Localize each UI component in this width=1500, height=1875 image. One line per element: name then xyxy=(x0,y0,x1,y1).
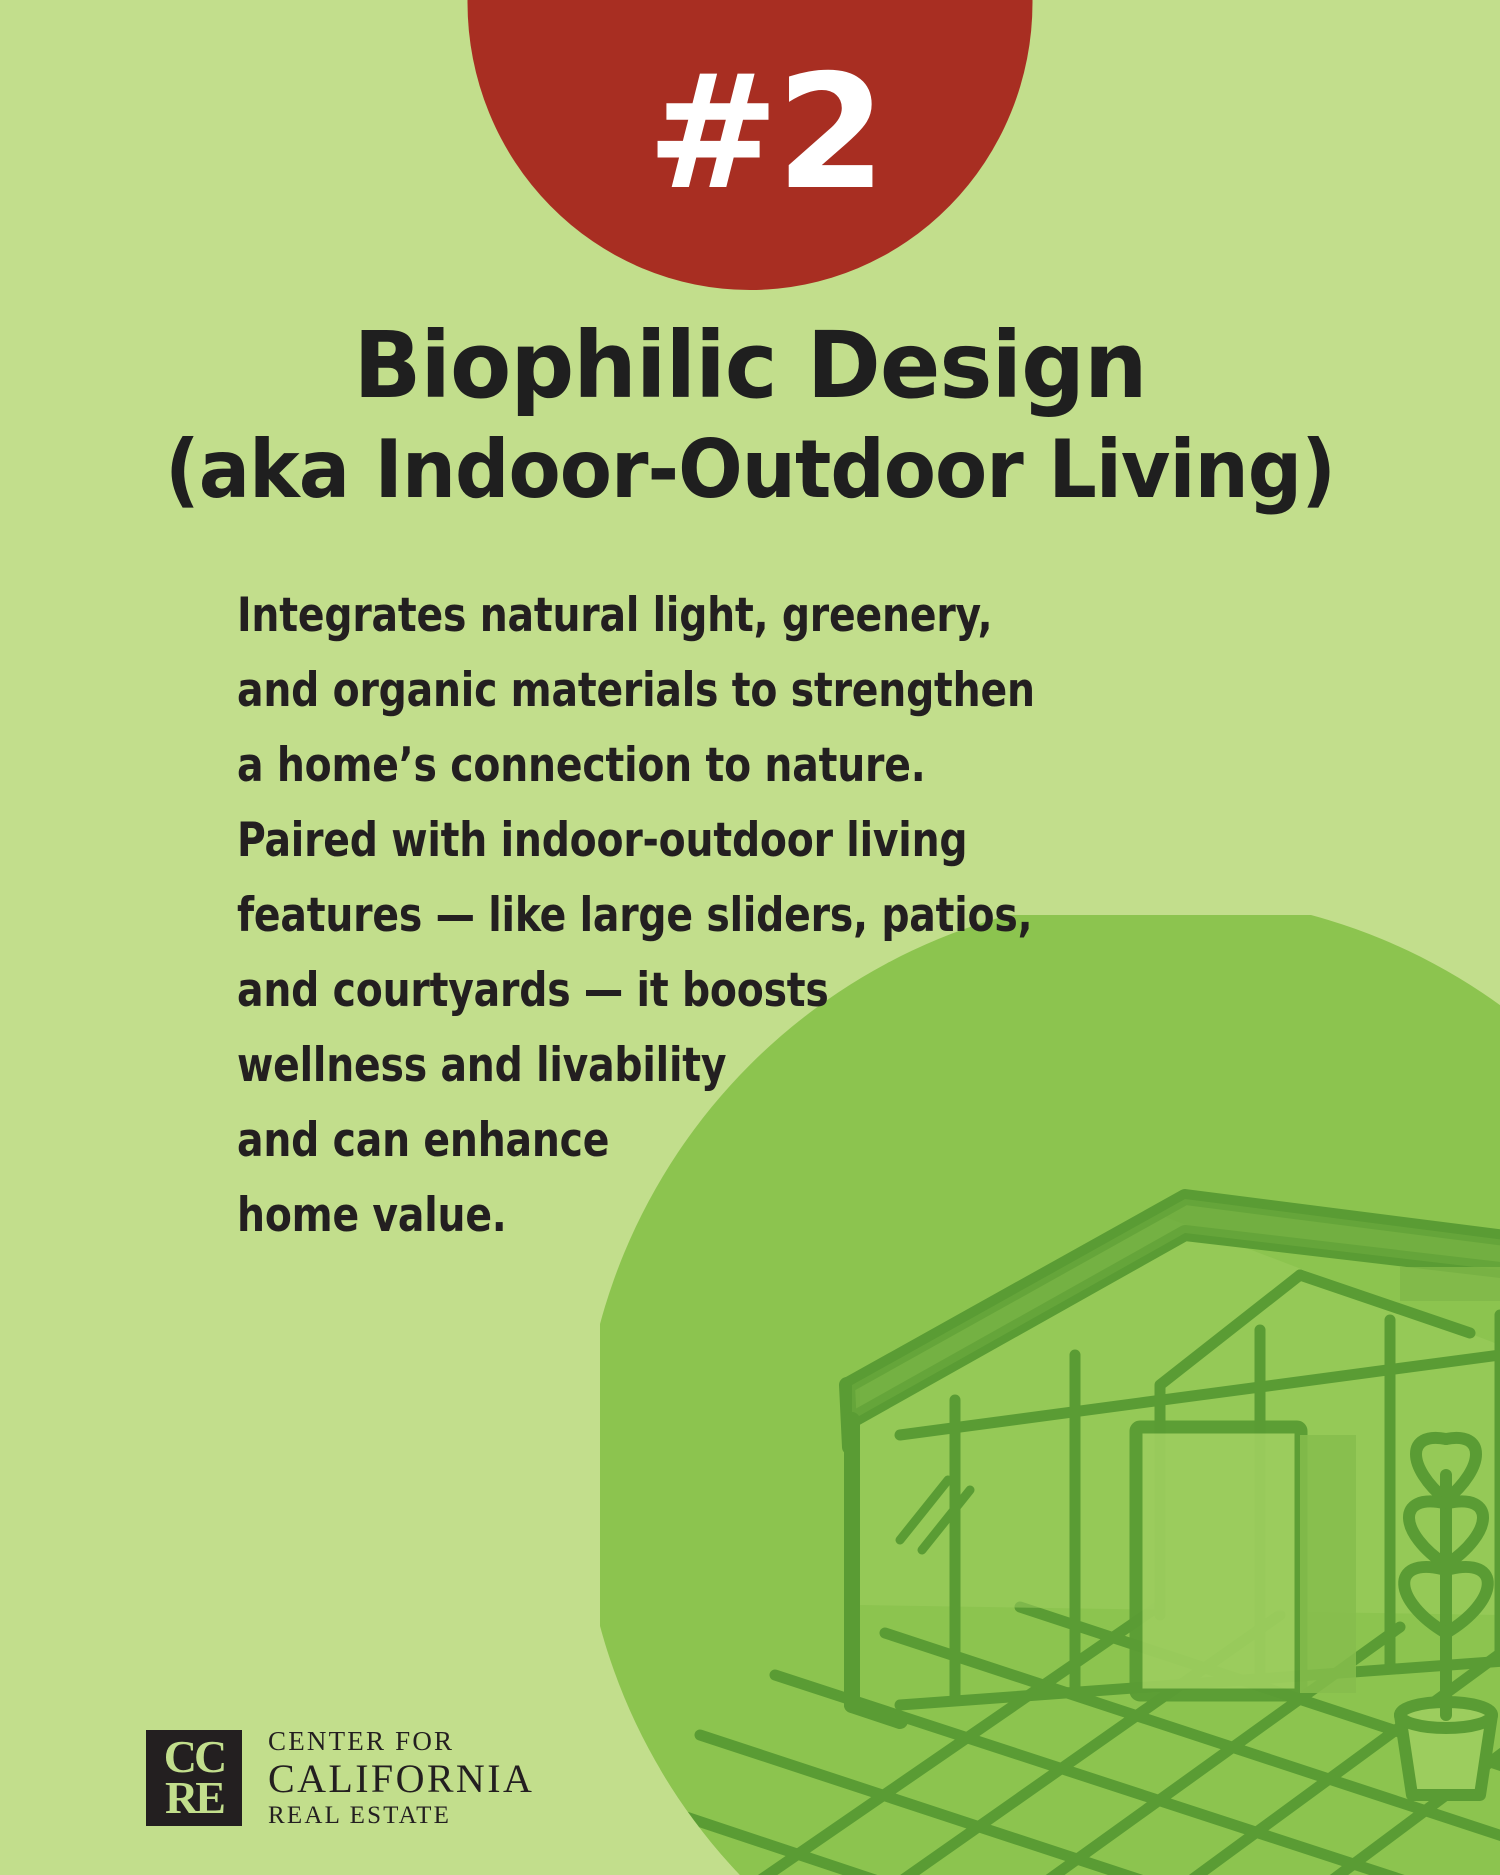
logo-mark-bottom: RE xyxy=(146,1775,242,1821)
left-wall xyxy=(852,1420,900,1721)
glass-reflection xyxy=(900,1480,970,1550)
logo-line-2: CALIFORNIA xyxy=(268,1757,534,1801)
body-line: a home’s connection to nature. xyxy=(237,728,1009,803)
body-line: Integrates natural light, greenery, xyxy=(237,578,1009,653)
body-line: home value. xyxy=(237,1178,1009,1253)
body-line: and courtyards — it boosts xyxy=(237,953,1009,1028)
illustration-contents xyxy=(660,1197,1500,1875)
glass-mullions xyxy=(955,1315,1500,1697)
body-line: Paired with indoor-outdoor living xyxy=(237,803,1009,878)
body-line: and organic materials to strengthen xyxy=(237,653,1009,728)
heading-block: Biophilic Design (aka Indoor-Outdoor Liv… xyxy=(0,320,1500,510)
ccre-logo: CC RE CENTER FOR CALIFORNIA REAL ESTATE xyxy=(146,1725,534,1831)
body-line: and can enhance xyxy=(237,1103,1009,1178)
body-copy: Integrates natural light, greenery, and … xyxy=(237,578,1067,1253)
potted-plant xyxy=(1400,1438,1492,1795)
logo-line-3: REAL ESTATE xyxy=(268,1801,534,1831)
patio-grid xyxy=(680,1605,1500,1875)
house-fill xyxy=(860,1215,1500,1615)
slider-door-shadow xyxy=(1300,1435,1356,1693)
body-line: wellness and livability xyxy=(237,1028,1009,1103)
slider-door xyxy=(1136,1427,1301,1695)
ccre-logo-wordmark: CENTER FOR CALIFORNIA REAL ESTATE xyxy=(268,1725,534,1831)
ccre-logo-mark: CC RE xyxy=(146,1730,242,1826)
body-line: features — like large sliders, patios, xyxy=(237,878,1009,953)
badge-number: #2 xyxy=(617,54,883,290)
page-subtitle: (aka Indoor-Outdoor Living) xyxy=(38,430,1463,510)
number-badge: #2 xyxy=(468,0,1033,290)
roof-soffit xyxy=(1400,1267,1500,1301)
gable-lines xyxy=(1160,1275,1470,1615)
glass-transom xyxy=(900,1347,1500,1705)
page-title: Biophilic Design xyxy=(23,320,1478,412)
logo-line-1: CENTER FOR xyxy=(268,1725,534,1757)
